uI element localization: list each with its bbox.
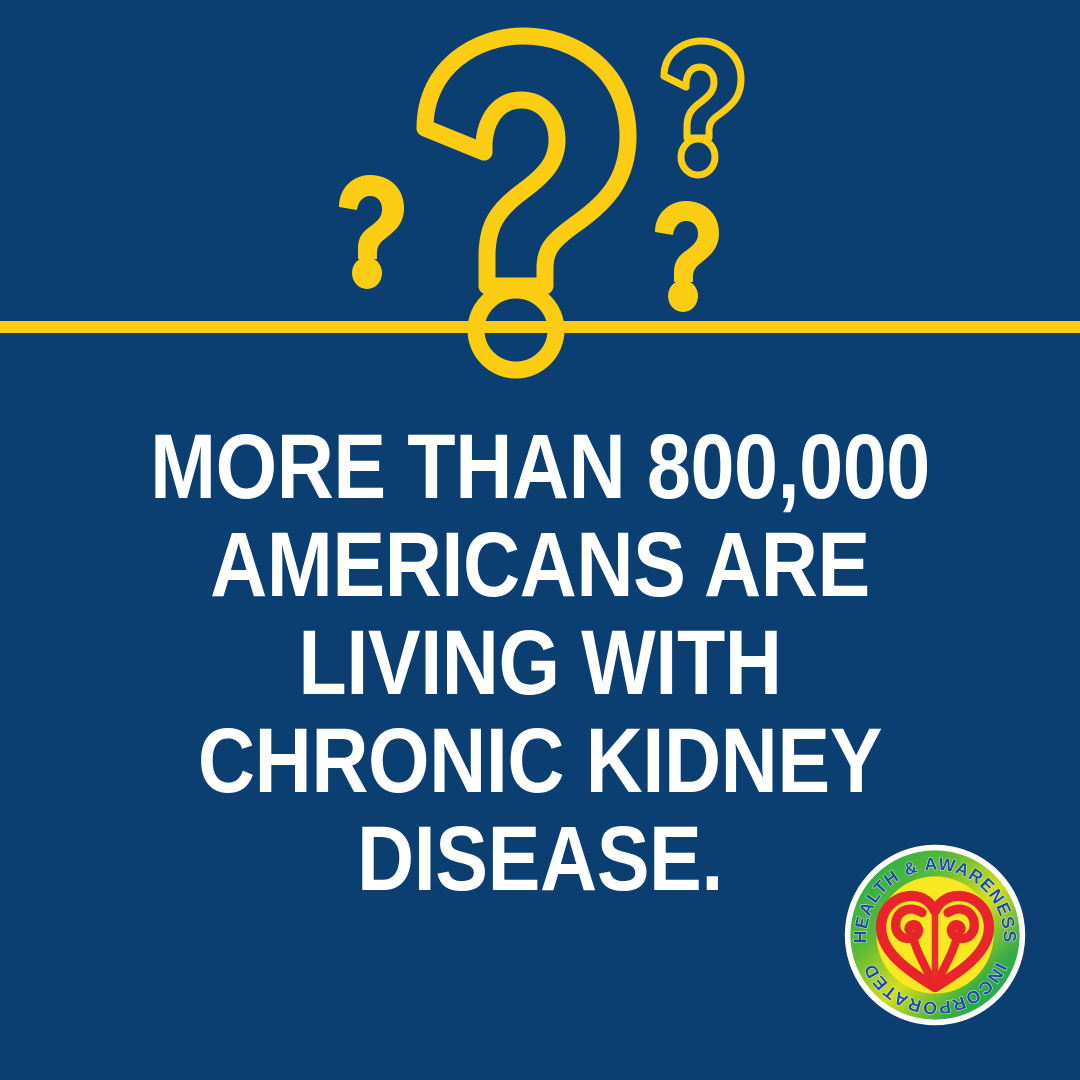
headline-line-3: LIVING WITH <box>110 614 970 712</box>
question-mark-left-dot <box>352 257 382 289</box>
hero-illustration <box>0 0 1080 400</box>
headline-line-1: MORE THAN 800,000 <box>110 418 970 516</box>
poster-canvas: MORE THAN 800,000 AMERICANS ARE LIVING W… <box>0 0 1080 1080</box>
headline-line-5: DISEASE. <box>110 810 970 908</box>
hero-background <box>0 0 1080 400</box>
headline-line-4: CHRONIC KIDNEY <box>110 712 970 810</box>
headline: MORE THAN 800,000 AMERICANS ARE LIVING W… <box>0 418 1080 908</box>
yellow-horizontal-rule <box>0 321 1080 333</box>
question-mark-right-dot <box>668 280 698 312</box>
health-and-awareness-incorporated-logo[interactable]: HEALTH & AWARENESS INCORPORATED <box>842 842 1028 1028</box>
headline-line-2: AMERICANS ARE <box>110 516 970 614</box>
